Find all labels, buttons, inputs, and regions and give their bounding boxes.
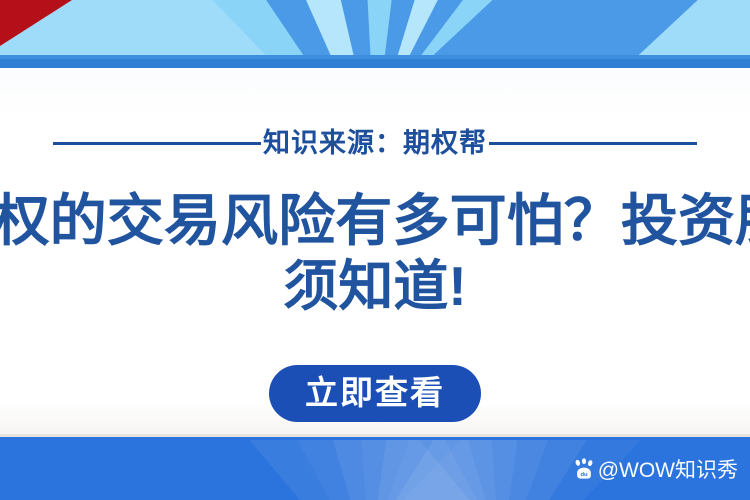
bottom-decorative-band: du @WOW知识秀 — [0, 440, 750, 500]
baidu-paw-icon: du — [573, 458, 595, 480]
svg-text:du: du — [580, 472, 588, 478]
source-attribution-row: 知识来源：期权帮 — [0, 123, 750, 163]
promo-poster: 知识来源：期权帮 权的交易风险有多可怕？投资朋友 须知道! 立即查看 — [0, 0, 750, 500]
content-card: 知识来源：期权帮 权的交易风险有多可怕？投资朋友 须知道! 立即查看 — [0, 68, 750, 437]
card-bottom-divider — [0, 434, 750, 437]
top-band-strip-highlight — [0, 55, 750, 59]
view-now-button[interactable]: 立即查看 — [269, 365, 481, 422]
watermark: du @WOW知识秀 — [573, 454, 738, 484]
source-label: 知识来源：期权帮 — [261, 130, 489, 157]
headline: 权的交易风险有多可怕？投资朋友 须知道! — [0, 188, 750, 319]
cta-container: 立即查看 — [0, 365, 750, 422]
watermark-label: @WOW知识秀 — [598, 454, 738, 484]
headline-line-1: 权的交易风险有多可怕？投资朋友 — [0, 188, 750, 254]
source-rule-right — [489, 142, 697, 145]
headline-line-2: 须知道! — [0, 254, 750, 319]
top-decorative-band — [0, 0, 750, 68]
red-corner-flag-icon — [0, 0, 72, 46]
source-rule-left — [53, 142, 261, 145]
